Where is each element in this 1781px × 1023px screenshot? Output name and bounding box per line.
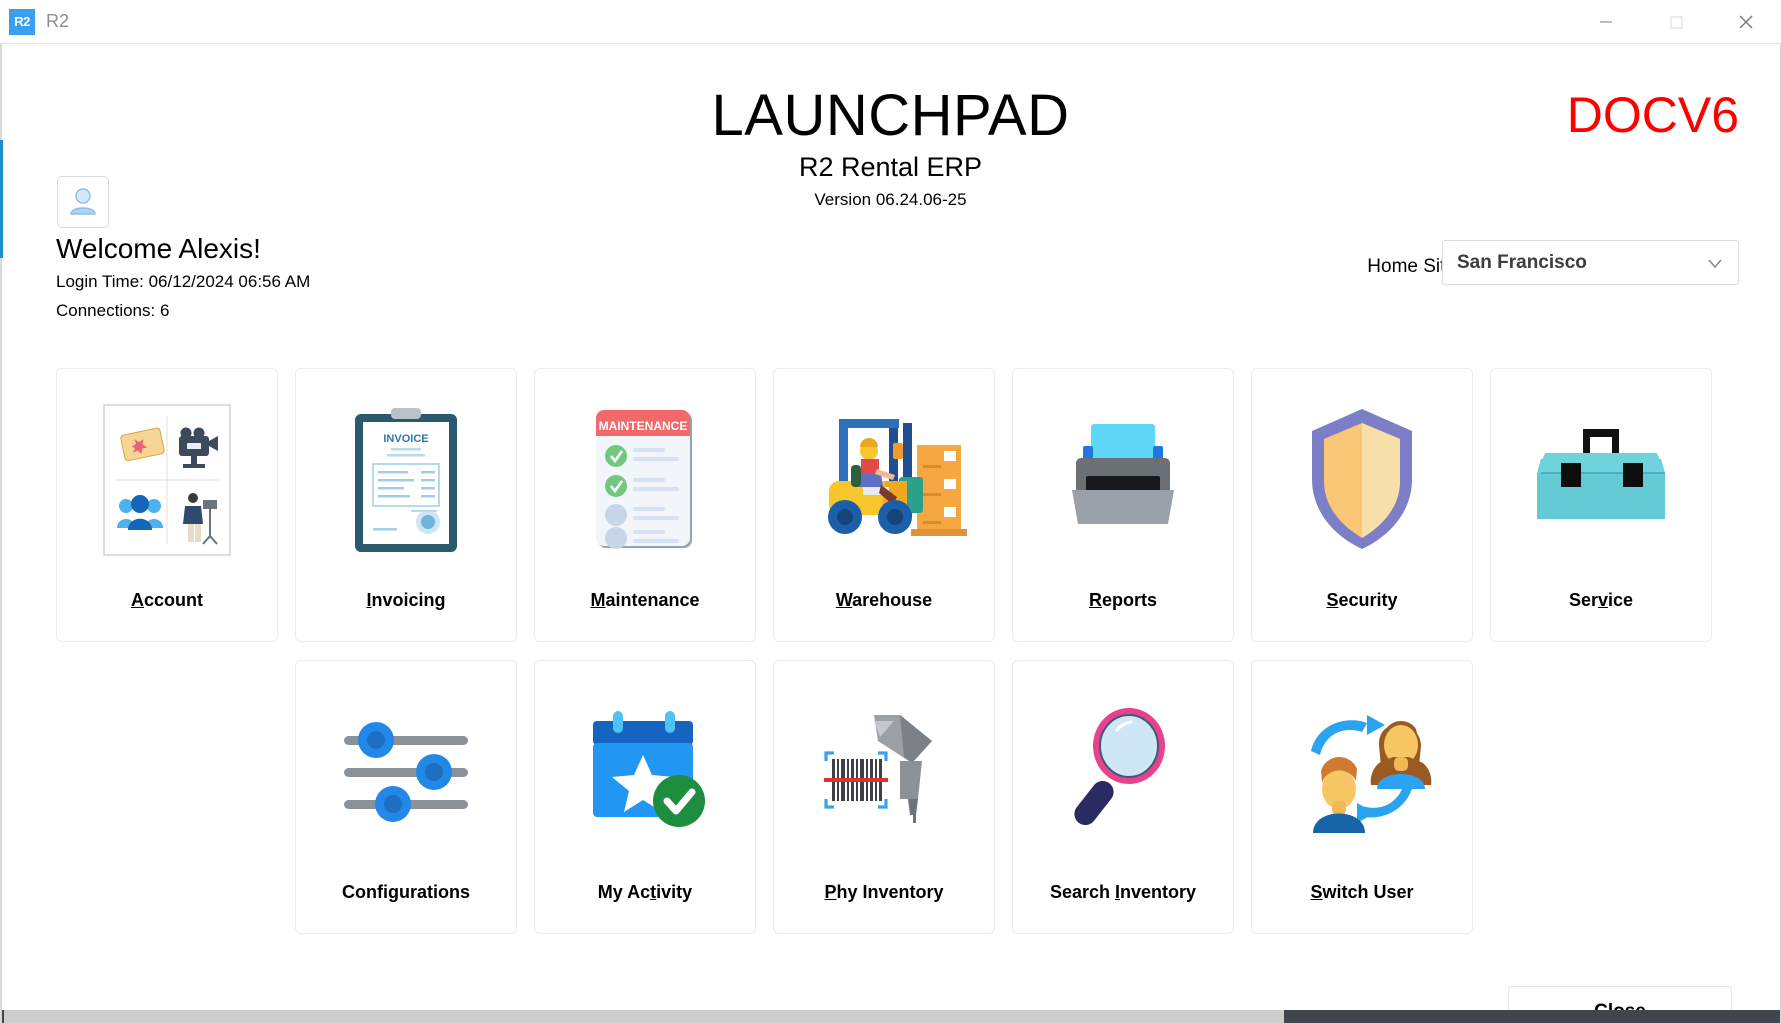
doc-version-badge: DOCV6: [1567, 86, 1739, 144]
tile-label: Security: [1326, 590, 1397, 611]
page-title: LAUNCHPAD: [0, 82, 1781, 149]
tile-phy-inventory[interactable]: Phy Inventory: [773, 660, 995, 934]
tile-label: My Activity: [598, 882, 692, 903]
maximize-icon: [1666, 12, 1686, 32]
tile-label: Configurations: [342, 882, 470, 903]
invoice-clipboard-icon: INVOICE: [296, 369, 516, 590]
minimize-button[interactable]: [1571, 0, 1641, 43]
tile-label: Search Inventory: [1050, 882, 1196, 903]
tile-row-2: Configurations My Activity: [295, 660, 1732, 934]
tile-label: Account: [131, 590, 203, 611]
chevron-down-icon: [1704, 252, 1726, 274]
tile-service[interactable]: Service: [1490, 368, 1712, 642]
tile-label: Invoicing: [366, 590, 445, 611]
tile-warehouse[interactable]: Warehouse: [773, 368, 995, 642]
maintenance-checklist-icon: MAINTENANCE: [535, 369, 755, 590]
window-title: R2: [46, 11, 69, 32]
forklift-warehouse-icon: [774, 369, 994, 590]
tile-label: Warehouse: [836, 590, 932, 611]
calendar-star-check-icon: [535, 661, 755, 882]
connections-count: Connections: 6: [56, 301, 169, 321]
tile-reports[interactable]: Reports: [1012, 368, 1234, 642]
sliders-icon: [296, 661, 516, 882]
close-icon: [1735, 11, 1757, 33]
switch-user-icon: [1252, 661, 1472, 882]
tile-row-1: Account INVOICE: [56, 368, 1732, 642]
minimize-icon: [1596, 12, 1616, 32]
avatar: [57, 176, 109, 228]
app-icon: R2: [9, 9, 35, 35]
tile-search-inventory[interactable]: Search Inventory: [1012, 660, 1234, 934]
launchpad-grid: Account INVOICE: [56, 368, 1732, 934]
tile-account[interactable]: Account: [56, 368, 278, 642]
tile-my-activity[interactable]: My Activity: [534, 660, 756, 934]
printer-icon: [1013, 369, 1233, 590]
tile-label: Maintenance: [590, 590, 699, 611]
magnifier-icon: [1013, 661, 1233, 882]
shield-icon: [1252, 369, 1472, 590]
tile-security[interactable]: Security: [1251, 368, 1473, 642]
tile-invoicing[interactable]: INVOICE: [295, 368, 517, 642]
tile-label: Phy Inventory: [824, 882, 943, 903]
title-bar: R2 R2: [0, 0, 1781, 44]
tile-configurations[interactable]: Configurations: [295, 660, 517, 934]
login-time: Login Time: 06/12/2024 06:56 AM: [56, 272, 310, 292]
home-site-value: San Francisco: [1457, 252, 1704, 274]
scrollbar-thumb[interactable]: [4, 1010, 1284, 1023]
maximize-button[interactable]: [1641, 0, 1711, 43]
window-close-button[interactable]: [1711, 0, 1781, 43]
welcome-message: Welcome Alexis!: [56, 233, 261, 265]
svg-text:INVOICE: INVOICE: [383, 433, 428, 445]
tile-label: Reports: [1089, 590, 1157, 611]
tile-label: Switch User: [1310, 882, 1413, 903]
app-subtitle: R2 Rental ERP: [0, 152, 1781, 183]
tile-switch-user[interactable]: Switch User: [1251, 660, 1473, 934]
toolbox-icon: [1491, 369, 1711, 590]
horizontal-scrollbar[interactable]: [2, 1010, 1780, 1023]
tile-label: Service: [1569, 590, 1633, 611]
app-version: Version 06.24.06-25: [0, 190, 1781, 210]
svg-text:MAINTENANCE: MAINTENANCE: [599, 419, 688, 433]
home-site-select[interactable]: San Francisco: [1442, 240, 1739, 285]
user-avatar-icon: [66, 185, 100, 219]
tile-maintenance[interactable]: MAINTENANCE: [534, 368, 756, 642]
launchpad-window: R2 R2 LAUNCHPAD R2 Rental ERP Version 06…: [0, 0, 1781, 1023]
account-collage-icon: [57, 369, 277, 590]
barcode-scanner-icon: [774, 661, 994, 882]
